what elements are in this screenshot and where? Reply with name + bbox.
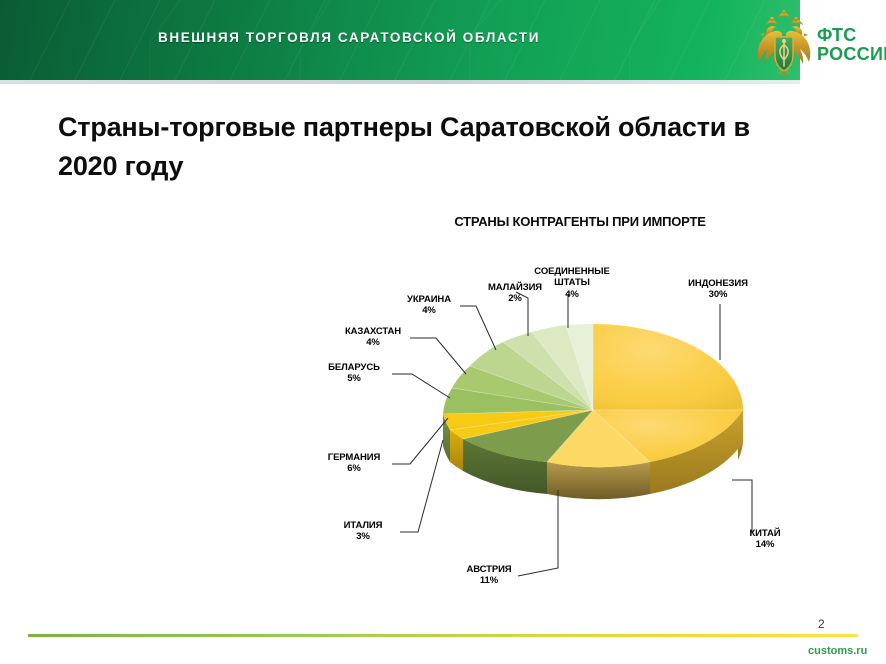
fts-russia-logo: ФТС РОССИИ (755, 6, 883, 84)
pie-label-kazakhstan-pct: 4% (330, 337, 416, 349)
leader-line-italy (400, 440, 443, 532)
pie-label-austria: АВСТРИЯ 11% (446, 552, 532, 598)
pie-label-ukraine-pct: 4% (392, 305, 466, 317)
page-number: 2 (818, 617, 825, 631)
pie-label-indonesia: ИНДОНЕЗИЯ 30% (663, 266, 773, 312)
pie-label-indonesia-name: ИНДОНЕЗИЯ (688, 278, 748, 289)
pie-label-austria-name: АВСТРИЯ (466, 564, 511, 575)
pie-label-china-name: КИТАЙ (749, 528, 780, 539)
page-title: Страны-торговые партнеры Саратовской обл… (58, 108, 758, 186)
presentation-slide: ВНЕШНЯЯ ТОРГОВЛЯ САРАТОВСКОЙ ОБЛАСТИ (0, 0, 886, 664)
fts-wordmark-line2: РОССИИ (817, 45, 886, 64)
pie-label-usa: СОЕДИНЕННЫЕ ШТАТЫ 4% (530, 254, 614, 312)
russian-customs-eagle-emblem (755, 9, 813, 81)
pie-label-belarus-name: БЕЛАРУСЬ (328, 362, 380, 373)
leader-line-kazakhstan (410, 338, 466, 374)
leader-line-belarus (392, 374, 450, 398)
import-partners-pie-chart: СТРАНЫ КОНТРАГЕНТЫ ПРИ ИМПОРТЕ (300, 214, 886, 604)
chart-title: СТРАНЫ КОНТРАГЕНТЫ ПРИ ИМПОРТЕ (300, 214, 860, 229)
fts-wordmark: ФТС РОССИИ (817, 26, 886, 64)
pie-label-usa-name: СОЕДИНЕННЫЕ ШТАТЫ (534, 266, 609, 289)
pie-label-italy: ИТАЛИЯ 3% (322, 508, 404, 554)
header-banner: ВНЕШНЯЯ ТОРГОВЛЯ САРАТОВСКОЙ ОБЛАСТИ (0, 0, 800, 80)
leader-line-germany (392, 418, 448, 464)
pie-label-italy-name: ИТАЛИЯ (344, 520, 383, 531)
pie-label-indonesia-pct: 30% (663, 289, 773, 301)
pie-label-germany-pct: 6% (310, 463, 398, 475)
footer-gradient-rule (28, 634, 858, 637)
footer-website: customs.ru (808, 645, 867, 657)
pie-label-italy-pct: 3% (322, 531, 404, 543)
pie-label-china: КИТАЙ 14% (720, 516, 810, 562)
pie-label-ukraine: УКРАИНА 4% (392, 282, 466, 328)
pie-label-austria-pct: 11% (446, 575, 532, 587)
header-underline-divider (0, 80, 800, 84)
pie-label-germany-name: ГЕРМАНИЯ (328, 452, 380, 463)
pie-label-usa-pct: 4% (530, 289, 614, 301)
fts-wordmark-line1: ФТС (817, 26, 886, 45)
pie-label-china-pct: 14% (720, 539, 810, 551)
pie-label-ukraine-name: УКРАИНА (407, 294, 451, 305)
pie-label-germany: ГЕРМАНИЯ 6% (310, 440, 398, 486)
header-banner-title: ВНЕШНЯЯ ТОРГОВЛЯ САРАТОВСКОЙ ОБЛАСТИ (158, 30, 540, 45)
pie-label-belarus-pct: 5% (312, 373, 396, 385)
